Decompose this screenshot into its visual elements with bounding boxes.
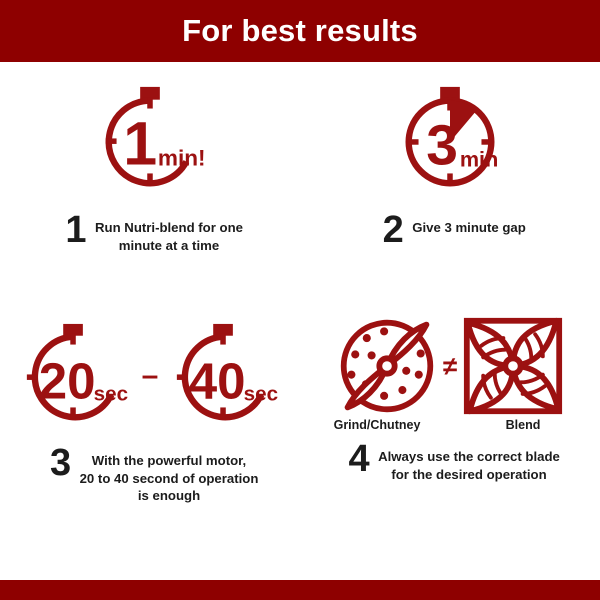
step-2-number: 2 [374, 213, 412, 247]
step-2-text-line-1: Give 3 minute gap [412, 219, 526, 237]
timer-unit-label: sec [93, 383, 127, 406]
stopwatch-20-sec-icon: 20 sec [14, 320, 136, 432]
timer-unit-label: sec [244, 383, 278, 406]
step-2-caption: 2 Give 3 minute gap [300, 207, 600, 247]
step-3-caption: 3 With the powerful motor, 20 to 40 seco… [0, 440, 300, 505]
timer-value-label: 1 [123, 109, 157, 177]
timer-value-label: 3 [426, 113, 458, 177]
timer-value-label: 20 [38, 353, 95, 410]
dual-timer-row: 20 sec – 40 sec [14, 320, 287, 432]
not-equal-icon: ≠ [443, 353, 457, 379]
step-2-text: Give 3 minute gap [412, 213, 526, 237]
step-1-icon-zone: 1 min! [0, 72, 300, 207]
stopwatch-3-min-icon: 3 min [391, 81, 509, 199]
step-1-number: 1 [57, 213, 95, 247]
range-separator: – [142, 361, 159, 391]
blades-row: ≠ [334, 315, 566, 417]
stopwatch-1-min-icon: 1 min! [91, 81, 209, 199]
step-4-text-line-1: Always use the correct blade [378, 448, 560, 466]
timer-unit-label: min! [158, 145, 206, 170]
step-3-text: With the powerful motor, 20 to 40 second… [80, 446, 259, 505]
step-4-text: Always use the correct blade for the des… [378, 442, 560, 483]
timer-value-label: 40 [189, 353, 246, 410]
blend-blade-icon [460, 315, 566, 417]
step-4-text-line-2: for the desired operation [378, 466, 560, 484]
step-3-text-line-3: is enough [80, 487, 259, 505]
blade-labels-row: Grind/Chutney Blend [300, 418, 600, 432]
step-3-number: 3 [42, 446, 80, 480]
steps-container: 1 min! 1 Run Nutri-blend for one minute … [0, 62, 600, 580]
timer-unit-label: min [460, 146, 498, 171]
step-3-cell: 20 sec – 40 sec 3 With the powerful moto [0, 312, 300, 548]
header-bar: For best results [0, 0, 600, 62]
step-1-text-line-2: minute at a time [95, 237, 243, 255]
step-1-text-line-1: Run Nutri-blend for one [95, 219, 243, 237]
step-3-text-line-2: 20 to 40 second of operation [80, 470, 259, 488]
grind-chutney-blade-icon [334, 315, 440, 417]
step-4-icon-zone: ≠ [300, 312, 600, 420]
page-title: For best results [182, 13, 418, 49]
step-4-number: 4 [340, 442, 378, 476]
step-4-caption: 4 Always use the correct blade for the d… [300, 432, 600, 483]
step-1-text: Run Nutri-blend for one minute at a time [95, 213, 243, 254]
blend-label: Blend [469, 418, 577, 432]
step-4-cell: ≠ [300, 312, 600, 548]
step-1-cell: 1 min! 1 Run Nutri-blend for one minute … [0, 72, 300, 308]
step-3-text-line-1: With the powerful motor, [80, 452, 259, 470]
step-1-caption: 1 Run Nutri-blend for one minute at a ti… [0, 207, 300, 254]
step-2-icon-zone: 3 min [300, 72, 600, 207]
grind-chutney-label: Grind/Chutney [323, 418, 431, 432]
stopwatch-40-sec-icon: 40 sec [164, 320, 286, 432]
step-2-cell: 3 min 2 Give 3 minute gap [300, 72, 600, 308]
footer-bar [0, 580, 600, 600]
step-3-icon-zone: 20 sec – 40 sec [0, 312, 300, 440]
